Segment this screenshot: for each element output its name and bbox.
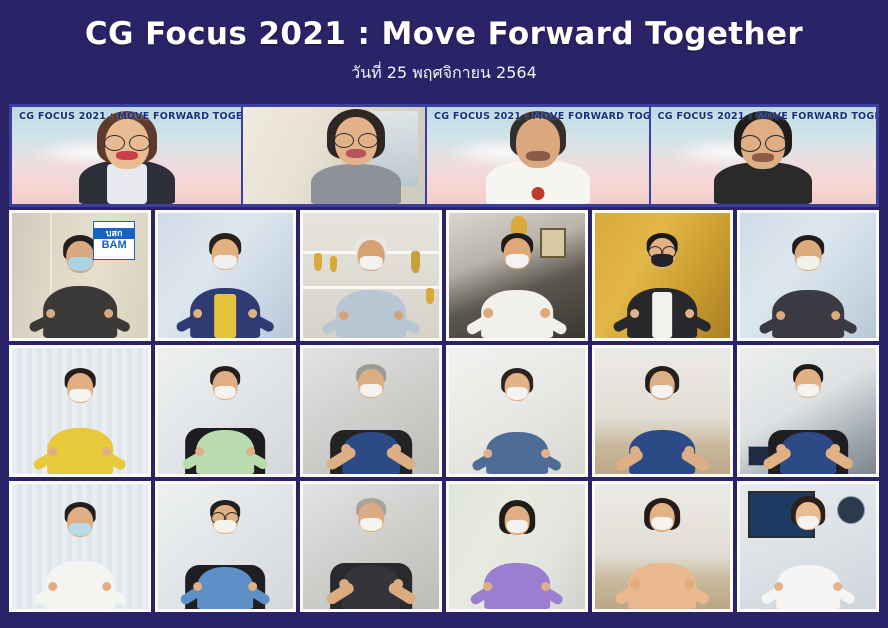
tile-r1c5[interactable] — [592, 210, 734, 341]
speaker-panel-4[interactable]: CG FOCUS 2021 : MOVE FORWARD TOGETHER — [651, 107, 876, 204]
tile-r1c1[interactable]: บสก BAM — [9, 210, 151, 341]
tile-r3c6[interactable] — [737, 481, 879, 612]
participant-avatar — [449, 484, 585, 609]
participant-avatar — [449, 213, 585, 338]
tile-r3c4[interactable] — [446, 481, 588, 612]
bam-logo-thai: บสก — [94, 228, 135, 239]
tile-r2c2[interactable] — [155, 345, 297, 476]
participant-tile-grid: บสก BAM — [9, 210, 879, 612]
tile-r2c6[interactable] — [737, 345, 879, 476]
participant-avatar — [740, 348, 876, 473]
speaker-avatar-2 — [265, 107, 427, 204]
participant-avatar — [158, 484, 294, 609]
tile-r1c2[interactable] — [155, 210, 297, 341]
participant-avatar — [303, 484, 439, 609]
speaker-banner-label-4: CG FOCUS 2021 : MOVE FORWARD TOGETHER — [658, 111, 876, 122]
tile-r1c3[interactable] — [300, 210, 442, 341]
bam-logo-english: BAM — [94, 239, 135, 252]
participant-avatar — [303, 213, 439, 338]
speaker-banner-label-1: CG FOCUS 2021 : MOVE FORWARD TOGETHER — [19, 111, 243, 122]
participant-avatar — [595, 348, 731, 473]
participant-avatar — [595, 484, 731, 609]
poster-footer-band — [0, 612, 888, 628]
poster-header: CG Focus 2021 : Move Forward Together วั… — [0, 0, 888, 104]
participant-avatar — [158, 348, 294, 473]
bam-logo: บสก BAM — [93, 221, 136, 261]
participant-avatar — [12, 348, 148, 473]
participant-avatar — [303, 348, 439, 473]
tile-r2c3[interactable] — [300, 345, 442, 476]
participant-avatar — [449, 348, 585, 473]
page-title: CG Focus 2021 : Move Forward Together — [85, 16, 803, 52]
event-date-subtitle: วันที่ 25 พฤศจิกายน 2564 — [351, 61, 537, 86]
cg-focus-poster: CG Focus 2021 : Move Forward Together วั… — [0, 0, 888, 628]
participant-avatar — [12, 484, 148, 609]
tile-r2c5[interactable] — [592, 345, 734, 476]
tile-r2c4[interactable] — [446, 345, 588, 476]
participant-avatar — [595, 213, 731, 338]
tile-r3c1[interactable] — [9, 481, 151, 612]
speaker-banner-label-3: CG FOCUS 2021 : MOVE FORWARD TOGETHER — [434, 111, 650, 122]
participant-avatar — [740, 484, 876, 609]
participant-avatar — [158, 213, 294, 338]
participant-avatar — [740, 213, 876, 338]
speaker-panel-1[interactable]: CG FOCUS 2021 : MOVE FORWARD TOGETHER — [12, 107, 243, 204]
tile-r3c5[interactable] — [592, 481, 734, 612]
speaker-video-strip: CG FOCUS 2021 : MOVE FORWARD TOGETHER — [9, 104, 879, 207]
tile-r1c6[interactable] — [737, 210, 879, 341]
tile-r2c1[interactable] — [9, 345, 151, 476]
speaker-panel-2[interactable] — [243, 107, 427, 204]
tile-r3c2[interactable] — [155, 481, 297, 612]
speaker-panel-3[interactable]: CG FOCUS 2021 : MOVE FORWARD TOGETHER — [427, 107, 650, 204]
tile-r1c4[interactable] — [446, 210, 588, 341]
tile-r3c3[interactable] — [300, 481, 442, 612]
